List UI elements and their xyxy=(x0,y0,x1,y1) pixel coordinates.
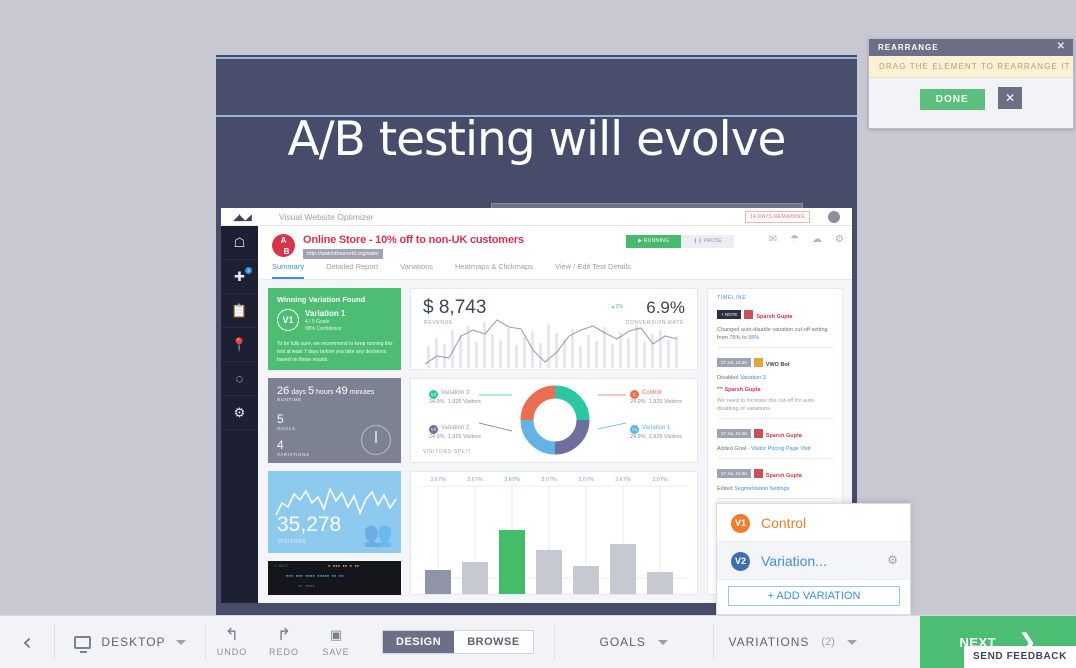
timeline-item: 27 Jul, 15:38VWO Bot Disabled Variation … xyxy=(708,353,842,413)
timeline-text-body: Edited xyxy=(717,486,734,492)
save-label: SAVE xyxy=(322,647,349,657)
variation-badge: V1 xyxy=(731,514,750,533)
legend-pct: 24.9% xyxy=(429,434,445,440)
runtime-value: 26 days 5 hours 49 minutes RUNTIME xyxy=(277,385,374,402)
divider xyxy=(717,498,833,499)
legend-item-variation-2: V2Variation 2 24.9% 1,925 Visitors xyxy=(429,425,481,440)
runtime-minutes-label: minutes xyxy=(350,389,375,396)
winning-card-badge: V1 xyxy=(277,309,299,331)
timeline-text: Added Goal - Visitor Pricing Page Visit xyxy=(717,445,833,453)
cancel-button[interactable]: ✕ xyxy=(998,87,1022,109)
runtime-minutes: 49 xyxy=(336,385,348,397)
timeline-text-body: Added Goal - xyxy=(717,446,751,452)
variations-label: VARIATIONS xyxy=(277,452,310,457)
winning-goals: 4 / 5 Goals xyxy=(305,319,329,325)
variation-row-variation-2[interactable]: V2 Variation... ⚙ xyxy=(717,542,910,580)
mode-browse-button[interactable]: BROWSE xyxy=(454,631,533,653)
sidebar-item-settings[interactable]: ⚙ xyxy=(221,396,258,430)
goals-label: GOALS xyxy=(277,426,296,431)
timeline-author: Sparsh Gupta xyxy=(766,433,802,439)
winning-variation-card: Winning Variation Found V1 Variation 1 4… xyxy=(268,288,401,370)
legend-item-variation-3: V3Variation 3 24.9% 1,925 Visitors xyxy=(429,390,481,405)
save-button[interactable]: ▣ SAVE xyxy=(310,616,362,668)
svg-text:3.67%: 3.67% xyxy=(615,477,631,483)
divider xyxy=(717,458,833,459)
mode-segmented-control[interactable]: DESIGN BROWSE xyxy=(382,630,534,654)
bottom-toolbar: ‹ DESKTOP ↰ UNDO ↱ REDO ▣ SAVE DESIGN BR… xyxy=(0,615,1076,668)
selected-element-outline[interactable] xyxy=(216,57,857,117)
code-line-2: ● ●●● ●● ● ●● xyxy=(328,565,359,569)
timeline-quote: We need to increase the cut-off for auto… xyxy=(717,397,833,413)
visitors-split-card: V3Variation 3 24.9% 1,925 Visitors V2Var… xyxy=(410,378,698,463)
sidebar-item-pin[interactable]: 📍 xyxy=(221,328,258,362)
timeline-chip[interactable]: 27 Jul, 15:38 xyxy=(717,429,751,438)
conversion-bar-chart: 3.67%3.67% 3.67%3.67% 3.67%3.67% 3.67% xyxy=(411,472,697,594)
variation-row-control[interactable]: V1 Control xyxy=(717,504,910,542)
legend-visitors: 1,925 Visitors xyxy=(649,399,682,405)
rearrange-actions: DONE ✕ xyxy=(869,78,1073,110)
timeline-item: 27 Jul, 15:38Sparsh Gupta Edited Segment… xyxy=(708,464,842,493)
legend-badge: V3 xyxy=(429,390,438,399)
conversion-bar-chart-card: 3.67%3.67% 3.67%3.67% 3.67%3.67% 3.67% xyxy=(410,471,698,595)
legend-badge: V1 xyxy=(630,425,639,434)
rearrange-header: REARRANGE ✕ xyxy=(869,39,1073,56)
visitors-value: 35,278 xyxy=(277,513,341,537)
cloud-icon[interactable]: ☁ xyxy=(812,234,822,245)
dashboard-tabs: Summary Detailed Report Variations Heatm… xyxy=(272,262,631,279)
winning-confidence: 98% Confidence xyxy=(305,326,342,332)
device-selector[interactable]: DESKTOP xyxy=(55,616,205,668)
legend-visitors: 1,925 Visitors xyxy=(448,434,481,440)
shield-icon[interactable]: ☂ xyxy=(790,234,799,245)
undo-button[interactable]: ↰ UNDO xyxy=(206,616,258,668)
ab-test-icon: A B xyxy=(272,234,295,257)
variation-label: Variation... xyxy=(761,552,827,571)
redo-button[interactable]: ↱ REDO xyxy=(258,616,310,668)
app-root: A/B testing will evolve SIGN UP FOR A FR… xyxy=(0,0,1076,668)
sidebar-item-clipboard[interactable]: 📋 xyxy=(221,294,258,328)
timeline-link[interactable]: Segmentation Settings xyxy=(734,486,789,492)
tab-variations[interactable]: Variations xyxy=(400,262,433,279)
winning-card-title: Winning Variation Found xyxy=(277,295,365,304)
sidebar-item-home[interactable]: ☖ xyxy=(221,226,258,260)
legend-name: Variation 2 xyxy=(441,425,469,431)
close-icon[interactable]: ✕ xyxy=(1057,41,1066,52)
run-pause-toggle[interactable]: ▶ RUNNING ❙❙ PAUSE xyxy=(626,235,734,248)
runtime-days: 26 xyxy=(277,385,289,397)
dashboard-topbar: ◢◣◢ Visual Website Optimizer 14 DAYS REM… xyxy=(221,208,852,226)
timeline-text: Disabled Variation 3 xyxy=(717,374,833,382)
timeline-item: 27 Jul, 15:38Sparsh Gupta Added Goal - V… xyxy=(708,424,842,453)
revenue-card: $ 8,743 REVENUE ▴ 2% 6.9% CONVERSION RAT… xyxy=(410,288,698,370)
revenue-label: REVENUE xyxy=(424,320,453,326)
rearrange-dialog[interactable]: REARRANGE ✕ DRAG THE ELEMENT TO REARRANG… xyxy=(868,38,1074,129)
mail-icon[interactable]: ✉ xyxy=(769,234,777,245)
days-remaining-badge: 14 DAYS REMAINING xyxy=(745,211,810,223)
variation-label: Control xyxy=(761,514,806,533)
code-line-1: 1.0977 xyxy=(274,565,288,569)
variation-badge: V2 xyxy=(731,552,750,571)
running-label: RUNNING xyxy=(644,238,669,244)
rearrange-title: REARRANGE xyxy=(878,43,939,52)
sidebar-item-lifebuoy[interactable]: ◌ xyxy=(221,362,258,396)
legend-visitors: 1,925 Visitors xyxy=(649,434,682,440)
goals-dropdown[interactable]: GOALS xyxy=(555,616,713,668)
legend-item-variation-1: V1Variation 1 24.9% 1,925 Visitors xyxy=(630,425,682,440)
avatar xyxy=(744,310,753,319)
people-icon: 👥 xyxy=(363,523,393,547)
visitors-split-label: VISITORS SPLIT xyxy=(423,449,471,455)
toolbar-spacer xyxy=(872,616,920,668)
timeline-text-body: Disabled xyxy=(717,375,740,381)
runtime-hours-label: hours xyxy=(316,389,334,396)
svg-text:3.67%: 3.67% xyxy=(504,477,520,483)
runtime-days-label: days xyxy=(291,389,306,396)
dashboard-sidebar: ☖ ✚ 3 📋 📍 ◌ ⚙ xyxy=(221,226,258,603)
svg-text:3.67%: 3.67% xyxy=(541,477,557,483)
timeline-chip[interactable]: + NOTE xyxy=(717,310,741,319)
goals-value: 5 xyxy=(277,412,284,426)
variations-stat: 4 VARIATIONS xyxy=(277,438,310,457)
mode-design-button[interactable]: DESIGN xyxy=(383,631,454,653)
legend-name: Control xyxy=(642,390,661,396)
legend-visitors: 1,925 Visitors xyxy=(448,399,481,405)
divider xyxy=(717,418,833,419)
test-header-icons: ✉ ☂ ☁ ⚙ xyxy=(769,234,844,245)
done-button[interactable]: DONE xyxy=(920,89,985,110)
goals-label: GOALS xyxy=(600,635,646,649)
timeline-link[interactable]: 95% xyxy=(748,335,759,341)
timeline-quote-author: Sparsh Gupta xyxy=(724,387,760,393)
runtime-card: 26 days 5 hours 49 minutes RUNTIME 5 GOA… xyxy=(268,378,401,463)
visitors-label: VISITORS xyxy=(278,539,306,545)
runtime-label: RUNTIME xyxy=(277,397,374,402)
ab-icon-b: B xyxy=(278,246,295,257)
undo-label: UNDO xyxy=(217,647,248,657)
pause-label: PAUSE xyxy=(704,238,722,244)
timeline-link[interactable]: Visitor Pricing Page Visit xyxy=(751,446,811,452)
conversion-value: 6.9% xyxy=(646,298,685,318)
timeline-author: Sparsh Gupta xyxy=(766,473,802,479)
test-url[interactable]: http://watchtheworld.org/sale/ xyxy=(303,249,383,259)
gear-icon[interactable]: ⚙ xyxy=(835,234,844,245)
device-label: DESKTOP xyxy=(101,635,165,649)
save-icon: ▣ xyxy=(330,627,342,644)
monitor-icon xyxy=(74,636,91,649)
divider xyxy=(717,347,833,348)
redo-icon: ↱ xyxy=(277,627,291,644)
chevron-down-icon xyxy=(176,640,186,645)
chevron-down-icon xyxy=(847,640,857,645)
rearrange-tip: DRAG THE ELEMENT TO REARRANGE IT xyxy=(869,56,1073,78)
avatar xyxy=(754,358,763,367)
avatar[interactable] xyxy=(828,211,840,223)
variations-count: (2) xyxy=(821,636,834,648)
svg-text:3.67%: 3.67% xyxy=(430,477,446,483)
gear-icon[interactable]: ⚙ xyxy=(887,553,898,567)
gauge-icon xyxy=(361,425,391,455)
legend-pct: 24.9% xyxy=(630,399,646,405)
timeline-text: Edited Segmentation Settings xyxy=(717,485,833,493)
chevron-down-icon xyxy=(658,640,668,645)
variations-dropdown-toggle[interactable]: VARIATIONS (2) xyxy=(714,616,872,668)
timeline-author: Sparsh Gupta xyxy=(756,314,792,320)
timeline-author: VWO Bot xyxy=(766,362,790,368)
code-line-4: ●● ●●●● xyxy=(298,585,315,589)
legend-pct: 24.9% xyxy=(630,434,646,440)
svg-text:3.67%: 3.67% xyxy=(467,477,483,483)
legend-item-control: CControl 24.9% 1,925 Visitors xyxy=(630,390,682,405)
pause-button[interactable]: ❙❙ PAUSE xyxy=(681,235,734,248)
dashboard-app-title: Visual Website Optimizer xyxy=(279,212,374,222)
timeline-link[interactable]: Variation 3 xyxy=(740,375,766,381)
timeline-heading: TIMELINE xyxy=(717,295,746,301)
variations-dropdown[interactable]: V1 Control V2 Variation... ⚙ + ADD VARIA… xyxy=(716,503,911,615)
sidebar-item-new[interactable]: ✚ 3 xyxy=(221,260,258,294)
legend-badge: V2 xyxy=(429,425,438,434)
running-button[interactable]: ▶ RUNNING xyxy=(626,235,681,248)
revenue-value: $ 8,743 xyxy=(423,297,486,319)
winning-card-subtext: 4 / 5 Goals 98% Confidence xyxy=(305,319,342,333)
code-preview-card: 1.0977 ● ●●● ●● ● ●● ●●● ●●● ●●●● ●●●●● … xyxy=(268,561,401,595)
legend-name: Variation 3 xyxy=(441,390,469,396)
legend-pct: 24.9% xyxy=(429,399,445,405)
tab-test-details[interactable]: View / Edit Test Details xyxy=(555,262,631,279)
tab-detailed-report[interactable]: Detailed Report xyxy=(326,262,378,279)
timeline-quote-author-row: ❞❞ Sparsh Gupta xyxy=(717,386,833,394)
variations-value: 4 xyxy=(277,438,284,452)
timeline-text: Changed auto-disable variation cut-off s… xyxy=(717,326,833,342)
variations-label: VARIATIONS xyxy=(729,635,810,649)
avatar xyxy=(754,429,763,438)
winning-card-variation: Variation 1 xyxy=(305,309,345,318)
add-variation-button[interactable]: + ADD VARIATION xyxy=(728,586,900,606)
mode-toggle[interactable]: DESIGN BROWSE xyxy=(362,616,554,668)
redo-label: REDO xyxy=(269,647,299,657)
tab-summary[interactable]: Summary xyxy=(272,262,304,279)
visitors-card: 35,278 VISITORS 👥 xyxy=(268,471,401,553)
timeline-chip[interactable]: 27 Jul, 15:38 xyxy=(717,358,751,367)
avatar xyxy=(754,469,763,478)
test-title: Online Store - 10% off to non-UK custome… xyxy=(303,234,524,246)
legend-name: Variation 1 xyxy=(642,425,670,431)
hero-headline[interactable]: A/B testing will evolve xyxy=(216,111,857,169)
goals-stat: 5 GOALS xyxy=(277,412,296,431)
timeline-text-body: Changed auto-disable variation cut-off s… xyxy=(717,327,828,341)
tab-heatmaps[interactable]: Heatmaps & Clickmaps xyxy=(455,262,533,279)
legend-badge: C xyxy=(630,390,639,399)
conversion-label: CONVERSION RATE xyxy=(626,320,684,326)
send-feedback-button[interactable]: SEND FEEDBACK xyxy=(964,646,1076,668)
ab-icon-a: A xyxy=(272,235,295,246)
code-line-3: ●●● ●●● ●●●● ●●●●● ●● ●● xyxy=(286,575,344,579)
back-button[interactable]: ‹ xyxy=(0,616,54,668)
svg-text:3.67%: 3.67% xyxy=(652,477,668,483)
vwo-logo-icon: ◢◣◢ xyxy=(233,212,267,222)
timeline-item: + NOTESparsh Gupta Changed auto-disable … xyxy=(708,305,842,342)
conversion-delta: ▴ 2% xyxy=(612,304,623,310)
svg-text:3.67%: 3.67% xyxy=(578,477,594,483)
undo-icon: ↰ xyxy=(225,627,239,644)
test-header: A B Online Store - 10% off to non-UK cus… xyxy=(258,226,852,280)
winning-card-note: To be fully sure, we recommend to keep r… xyxy=(277,340,395,364)
timeline-chip[interactable]: 27 Jul, 15:38 xyxy=(717,469,751,478)
sidebar-badge: 3 xyxy=(245,267,252,274)
